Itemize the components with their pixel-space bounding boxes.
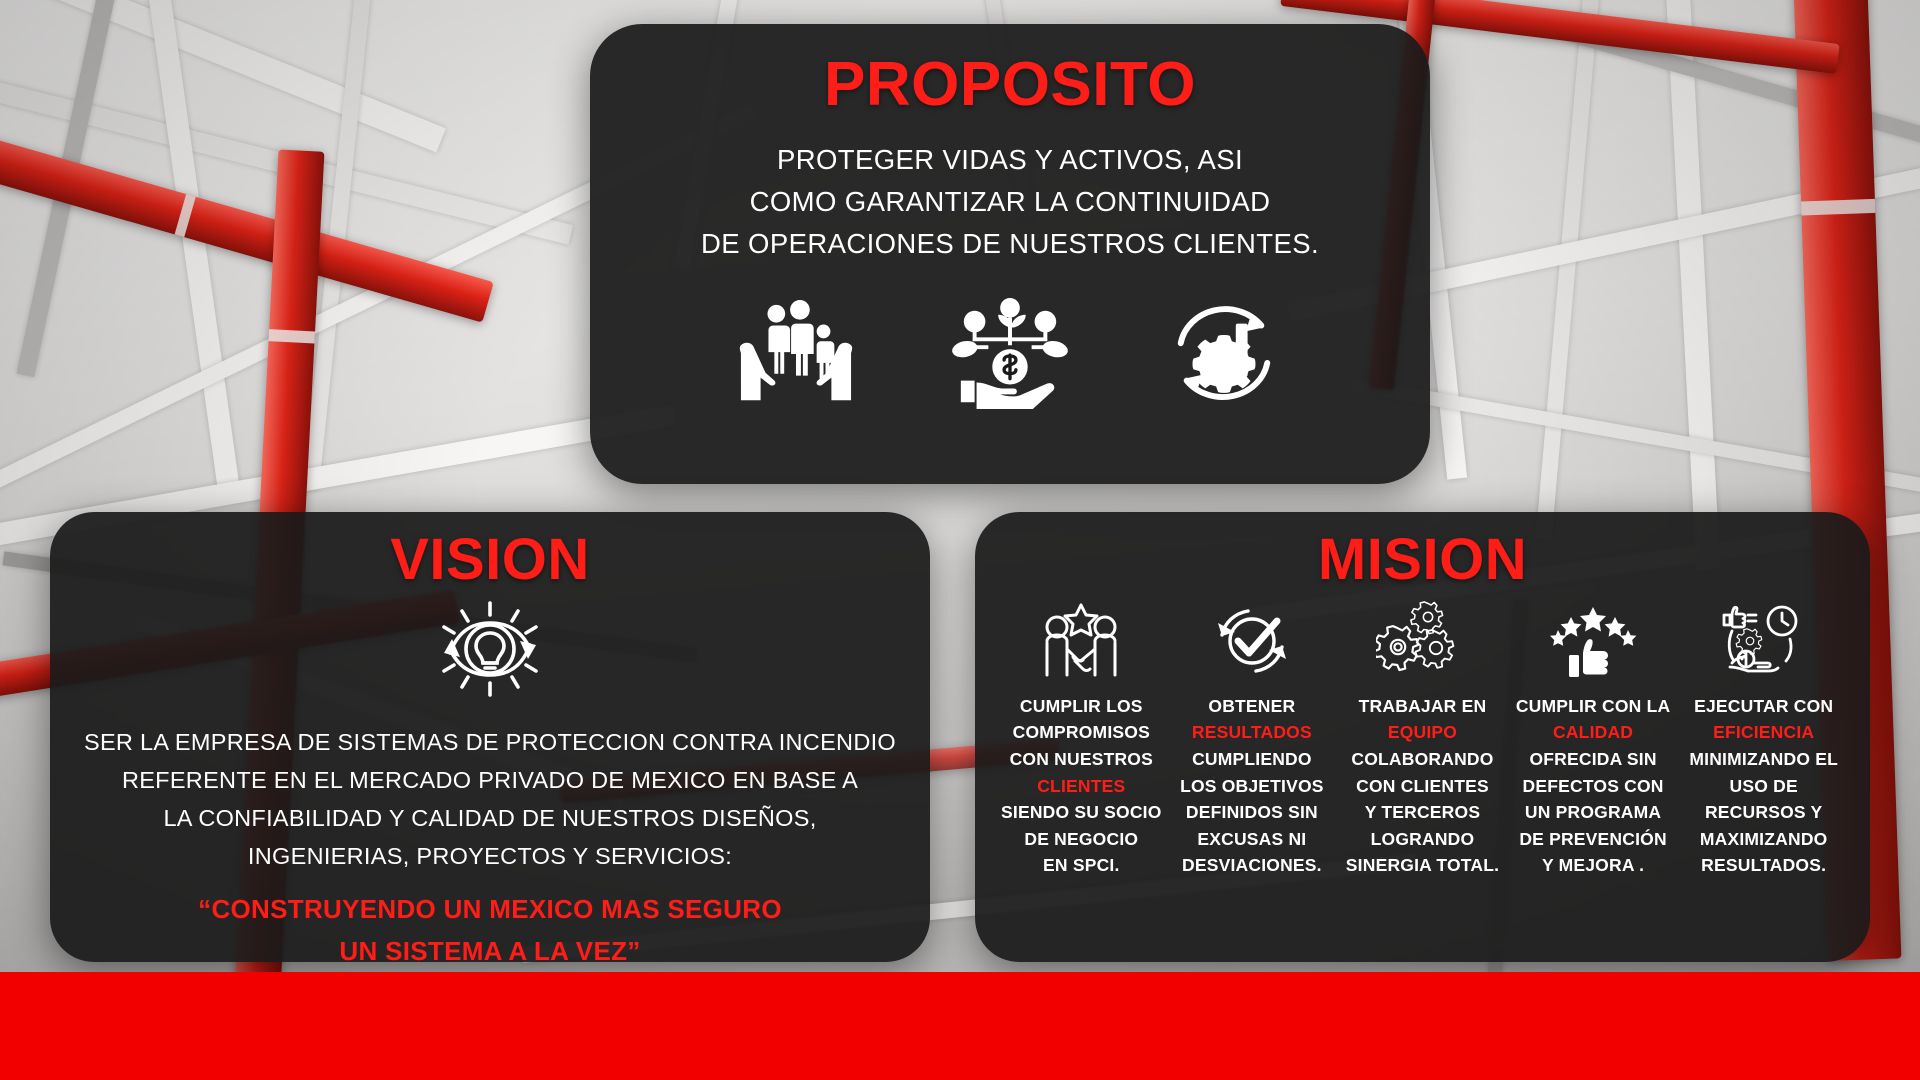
mision-line: LOS OBJETIVOS: [1180, 773, 1324, 800]
mision-line: TRABAJAR EN: [1346, 693, 1499, 720]
mision-line: SIENDO SU SOCIO: [1001, 799, 1162, 826]
mision-line: CON CLIENTES: [1346, 773, 1499, 800]
vision-body-line: LA CONFIABILIDAD Y CALIDAD DE NUESTROS D…: [76, 799, 904, 837]
hand-money-growth-icon: [951, 298, 1069, 410]
vision-card: VISION: [50, 512, 930, 962]
mision-line: EN SPCI.: [1001, 852, 1162, 879]
mision-line-highlight: RESULTADOS: [1180, 719, 1324, 746]
mision-line: EXCUSAS NI: [1180, 826, 1324, 853]
mision-line: CUMPLIR LOS: [1001, 693, 1162, 720]
vision-body-line: INGENIERIAS, PROYECTOS Y SERVICIOS:: [76, 837, 904, 875]
mision-line: SINERGIA TOTAL.: [1346, 852, 1499, 879]
efficiency-clock-gear-hand-icon: [1718, 601, 1810, 679]
mision-column-text: OBTENER RESULTADOS CUMPLIENDO LOS OBJETI…: [1180, 693, 1324, 879]
eye-lightbulb-icon: [428, 597, 552, 701]
mision-column: CUMPLIR CON LA CALIDAD OFRECIDA SIN DEFE…: [1511, 601, 1676, 879]
three-gears-icon: [1376, 601, 1468, 679]
mision-card: MISION CUMPLIR L: [975, 512, 1870, 962]
vision-body: SER LA EMPRESA DE SISTEMAS DE PROTECCION…: [50, 723, 930, 875]
proposito-icon-row: [590, 298, 1430, 410]
mision-column-text: CUMPLIR CON LA CALIDAD OFRECIDA SIN DEFE…: [1516, 693, 1670, 879]
mision-line: Y MEJORA .: [1516, 852, 1670, 879]
mision-line: DEFINIDOS SIN: [1180, 799, 1324, 826]
mision-title: MISION: [975, 512, 1870, 591]
vision-quote: “CONSTRUYENDO UN MEXICO MAS SEGURO UN SI…: [50, 889, 930, 962]
vision-quote-line: UN SISTEMA A LA VEZ”: [50, 931, 930, 962]
mision-columns: CUMPLIR LOS COMPROMISOS CON NUESTROS CLI…: [975, 591, 1870, 879]
mision-column: CUMPLIR LOS COMPROMISOS CON NUESTROS CLI…: [999, 601, 1164, 879]
mision-line: USO DE: [1689, 773, 1838, 800]
mision-line: DE NEGOCIO: [1001, 826, 1162, 853]
gear-bar-chart-refresh-icon: [1165, 298, 1283, 410]
check-circle-refresh-icon: [1206, 601, 1298, 679]
mision-line: UN PROGRAMA: [1516, 799, 1670, 826]
mision-line: DEFECTOS CON: [1516, 773, 1670, 800]
mision-line: MINIMIZANDO EL: [1689, 746, 1838, 773]
mision-line: COMPROMISOS: [1001, 719, 1162, 746]
mision-column-text: CUMPLIR LOS COMPROMISOS CON NUESTROS CLI…: [1001, 693, 1162, 879]
proposito-body: PROTEGER VIDAS Y ACTIVOS, ASI COMO GARAN…: [590, 139, 1430, 264]
vision-body-line: REFERENTE EN EL MERCADO PRIVADO DE MEXIC…: [76, 761, 904, 799]
mision-column: EJECUTAR CON EFICIENCIA MINIMIZANDO EL U…: [1681, 601, 1846, 879]
mision-line-highlight: EFICIENCIA: [1689, 719, 1838, 746]
vision-icon-wrap: [50, 597, 930, 701]
proposito-body-line: DE OPERACIONES DE NUESTROS CLIENTES.: [590, 223, 1430, 265]
proposito-title: PROPOSITO: [590, 24, 1430, 117]
family-in-hands-icon: [737, 298, 855, 410]
mision-line: EJECUTAR CON: [1689, 693, 1838, 720]
bottom-red-bar: [0, 972, 1920, 1080]
mision-column: OBTENER RESULTADOS CUMPLIENDO LOS OBJETI…: [1170, 601, 1335, 879]
proposito-body-line: PROTEGER VIDAS Y ACTIVOS, ASI: [590, 139, 1430, 181]
proposito-body-line: COMO GARANTIZAR LA CONTINUIDAD: [590, 181, 1430, 223]
mision-line: RECURSOS Y: [1689, 799, 1838, 826]
mision-column-text: EJECUTAR CON EFICIENCIA MINIMIZANDO EL U…: [1689, 693, 1838, 879]
mision-line-highlight: CALIDAD: [1516, 719, 1670, 746]
mision-line: RESULTADOS.: [1689, 852, 1838, 879]
mision-line: OBTENER: [1180, 693, 1324, 720]
handshake-star-icon: [1035, 601, 1127, 679]
mision-line: CON NUESTROS: [1001, 746, 1162, 773]
mision-line: COLABORANDO: [1346, 746, 1499, 773]
mision-line-highlight: EQUIPO: [1346, 719, 1499, 746]
vision-quote-line: “CONSTRUYENDO UN MEXICO MAS SEGURO: [50, 889, 930, 931]
mision-line: CUMPLIR CON LA: [1516, 693, 1670, 720]
vision-body-line: SER LA EMPRESA DE SISTEMAS DE PROTECCION…: [76, 723, 904, 761]
vision-title: VISION: [50, 512, 930, 591]
mision-line-highlight: CLIENTES: [1001, 773, 1162, 800]
mision-column: TRABAJAR EN EQUIPO COLABORANDO CON CLIEN…: [1340, 601, 1505, 879]
mision-line: OFRECIDA SIN: [1516, 746, 1670, 773]
thumbs-up-stars-icon: [1547, 601, 1639, 679]
mision-line: LOGRANDO: [1346, 826, 1499, 853]
mision-line: CUMPLIENDO: [1180, 746, 1324, 773]
mision-line: DESVIACIONES.: [1180, 852, 1324, 879]
mision-line: MAXIMIZANDO: [1689, 826, 1838, 853]
proposito-card: PROPOSITO PROTEGER VIDAS Y ACTIVOS, ASI …: [590, 24, 1430, 484]
mision-line: DE PREVENCIÓN: [1516, 826, 1670, 853]
mision-line: Y TERCEROS: [1346, 799, 1499, 826]
mision-column-text: TRABAJAR EN EQUIPO COLABORANDO CON CLIEN…: [1346, 693, 1499, 879]
